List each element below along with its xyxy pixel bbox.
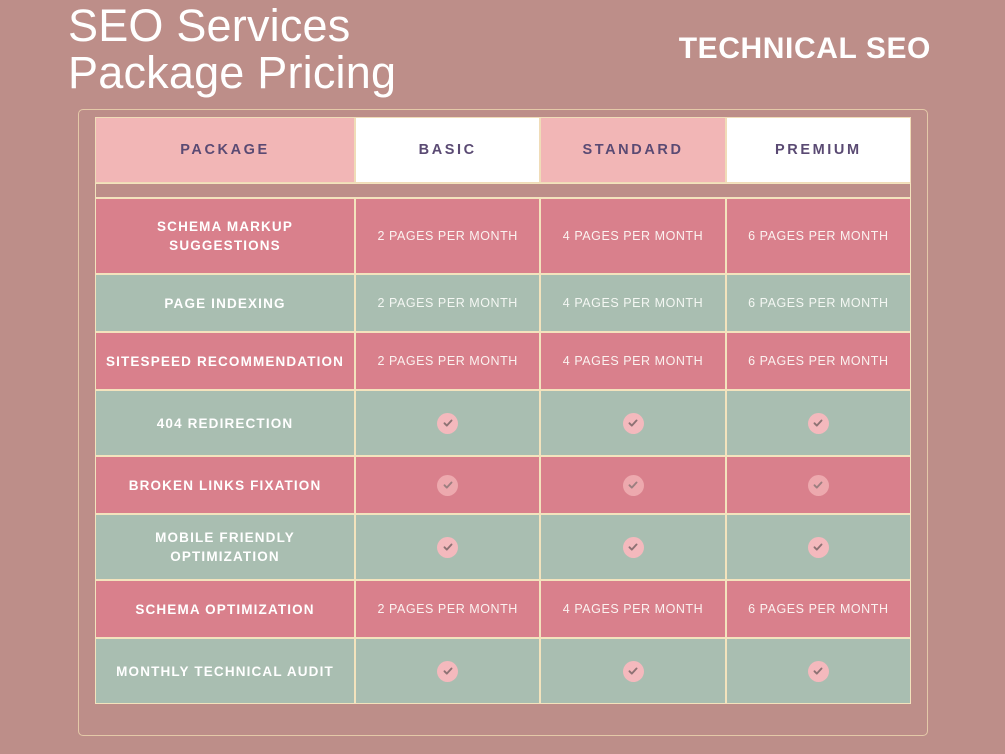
feature-label: SITESPEED RECOMMENDATION [95, 332, 355, 390]
check-circle-icon [808, 661, 829, 682]
table-row: SCHEMA MARKUP SUGGESTIONS2 PAGES PER MON… [95, 198, 911, 274]
feature-value-text: 4 PAGES PER MONTH [540, 332, 725, 390]
check-circle-icon [623, 413, 644, 434]
feature-value-check [355, 390, 540, 456]
table-row: MOBILE FRIENDLY OPTIMIZATION [95, 514, 911, 580]
feature-value-text: 4 PAGES PER MONTH [540, 580, 725, 638]
feature-value-text: 6 PAGES PER MONTH [726, 274, 911, 332]
feature-value-check [540, 456, 725, 514]
feature-value-text: 6 PAGES PER MONTH [726, 580, 911, 638]
table-row: PAGE INDEXING2 PAGES PER MONTH4 PAGES PE… [95, 274, 911, 332]
pricing-table-head: PACKAGEBASICSTANDARDPREMIUM [95, 117, 911, 183]
feature-value-check [355, 638, 540, 704]
plan-header-premium[interactable]: PREMIUM [726, 117, 911, 183]
check-circle-icon [437, 475, 458, 496]
pricing-table-body: SCHEMA MARKUP SUGGESTIONS2 PAGES PER MON… [95, 183, 911, 704]
feature-value-text: 4 PAGES PER MONTH [540, 198, 725, 274]
check-circle-icon [437, 537, 458, 558]
plan-header-standard[interactable]: STANDARD [540, 117, 725, 183]
pricing-table: PACKAGEBASICSTANDARDPREMIUM SCHEMA MARKU… [95, 117, 911, 704]
feature-value-check [540, 638, 725, 704]
check-circle-icon [808, 475, 829, 496]
feature-value-text: 2 PAGES PER MONTH [355, 274, 540, 332]
feature-value-check [540, 514, 725, 580]
feature-label: SCHEMA OPTIMIZATION [95, 580, 355, 638]
plan-header-row: PACKAGEBASICSTANDARDPREMIUM [95, 117, 911, 183]
feature-label: SCHEMA MARKUP SUGGESTIONS [95, 198, 355, 274]
plan-header-package[interactable]: PACKAGE [95, 117, 355, 183]
check-circle-icon [437, 413, 458, 434]
feature-value-check [355, 514, 540, 580]
feature-value-check [540, 390, 725, 456]
feature-label: BROKEN LINKS FIXATION [95, 456, 355, 514]
feature-label: PAGE INDEXING [95, 274, 355, 332]
feature-value-text: 2 PAGES PER MONTH [355, 580, 540, 638]
category-label: TECHNICAL SEO [679, 32, 931, 66]
check-circle-icon [623, 661, 644, 682]
table-row: SCHEMA OPTIMIZATION2 PAGES PER MONTH4 PA… [95, 580, 911, 638]
page-title: SEO Services Package Pricing [68, 2, 628, 96]
feature-label: 404 REDIRECTION [95, 390, 355, 456]
feature-label: MOBILE FRIENDLY OPTIMIZATION [95, 514, 355, 580]
plan-header-basic[interactable]: BASIC [355, 117, 540, 183]
spacer-cell [95, 183, 911, 198]
table-row: BROKEN LINKS FIXATION [95, 456, 911, 514]
feature-value-text: 2 PAGES PER MONTH [355, 198, 540, 274]
feature-value-check [355, 456, 540, 514]
check-circle-icon [623, 537, 644, 558]
feature-value-text: 6 PAGES PER MONTH [726, 198, 911, 274]
table-row: SITESPEED RECOMMENDATION2 PAGES PER MONT… [95, 332, 911, 390]
check-circle-icon [808, 537, 829, 558]
feature-label: MONTHLY TECHNICAL AUDIT [95, 638, 355, 704]
table-row: 404 REDIRECTION [95, 390, 911, 456]
table-row: MONTHLY TECHNICAL AUDIT [95, 638, 911, 704]
feature-value-text: 4 PAGES PER MONTH [540, 274, 725, 332]
feature-value-check [726, 390, 911, 456]
feature-value-check [726, 456, 911, 514]
feature-value-check [726, 638, 911, 704]
feature-value-text: 6 PAGES PER MONTH [726, 332, 911, 390]
check-circle-icon [808, 413, 829, 434]
check-circle-icon [437, 661, 458, 682]
check-circle-icon [623, 475, 644, 496]
feature-value-check [726, 514, 911, 580]
header-body-spacer [95, 183, 911, 198]
page-header: SEO Services Package Pricing TECHNICAL S… [0, 0, 1005, 100]
feature-value-text: 2 PAGES PER MONTH [355, 332, 540, 390]
